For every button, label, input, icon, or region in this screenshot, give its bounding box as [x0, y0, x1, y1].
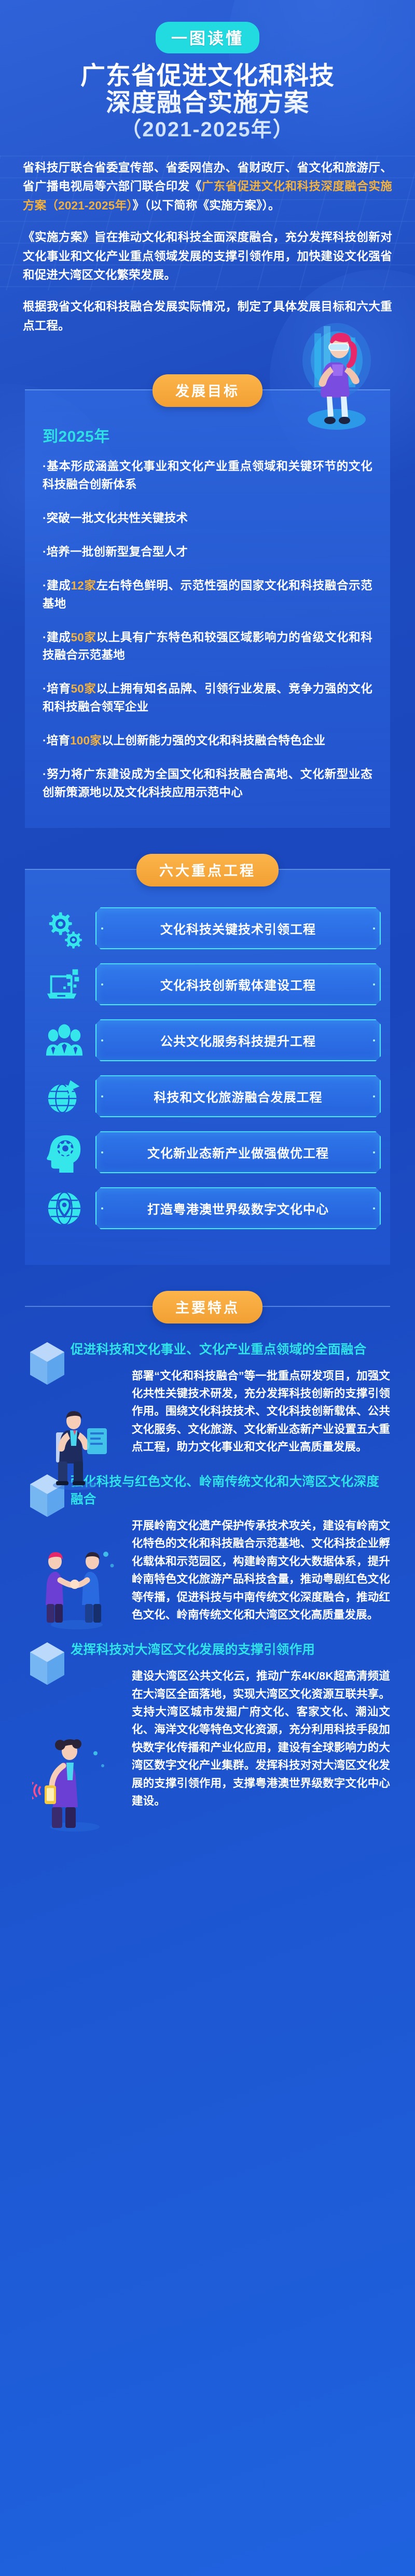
project-chip[interactable]: 公共文化服务科技提升工程: [95, 1019, 381, 1061]
title-line-1: 广东省促进文化和科技: [0, 63, 415, 90]
globe-pin-icon: [33, 1186, 95, 1231]
poster-header: 一图读懂 广东省促进文化和科技 深度融合实施方案 （2021-2025年）: [0, 0, 415, 141]
infographic-poster: 一图读懂 广东省促进文化和科技 深度融合实施方案 （2021-2025年） 省科…: [0, 0, 415, 2576]
goals-panel: 到2025年 ·基本形成涵盖文化事业和文化产业重点领域和关键环节的文化科技融合创…: [25, 389, 390, 827]
goal-item: ·基本形成涵盖文化事业和文化产业重点领域和关键环节的文化科技融合创新体系: [43, 458, 372, 494]
projects-panel: 文化科技关键技术引领工程 文化科技创新载体建设工程: [25, 869, 390, 1265]
projects-heading-wrap: 六大重点工程: [0, 854, 415, 886]
goal-prefix: ·基本形成涵盖文化事业和文化产业重点领域和关键环节的文化科技融合创新体系: [43, 460, 372, 491]
section-heading-features: 主要特点: [153, 1291, 262, 1324]
goal-suffix: 以上创新能力强的文化和科技融合特色企业: [102, 734, 325, 747]
page-title: 广东省促进文化和科技 深度融合实施方案 （2021-2025年）: [0, 63, 415, 141]
goal-number: 50家: [71, 682, 96, 695]
goal-item: ·培育50家以上拥有知名品牌、引领行业发展、竞争力强的文化和科技融合领军企业: [43, 680, 372, 716]
cube-icon: [28, 1473, 66, 1518]
title-years: （2021-2025年）: [0, 119, 415, 141]
section-heading-projects: 六大重点工程: [136, 854, 279, 886]
project-row: 文化科技创新载体建设工程: [33, 962, 381, 1007]
goal-prefix: ·建成: [43, 631, 71, 644]
goal-prefix: ·培养一批创新型复合型人才: [43, 545, 188, 558]
goal-prefix: ·培育: [43, 682, 71, 695]
feature-block: 发挥科技对大湾区文化发展的支撑引领作用: [25, 1641, 390, 1810]
project-chip[interactable]: 文化新业态新产业做强做优工程: [95, 1131, 381, 1173]
feature-body: 部署“文化和科技融合”等一批重点研发项目，加强文化共性关键技术研发，充分发挥科技…: [132, 1367, 390, 1456]
people-group-icon: [33, 1018, 95, 1063]
project-row: 文化新业态新产业做强做优工程: [33, 1130, 381, 1175]
goal-item: ·努力将广东建设成为全国文化和科技融合高地、文化新型业态创新策源地以及文化科技应…: [43, 766, 372, 802]
goal-number: 12家: [71, 579, 96, 592]
goal-item: ·建成50家以上具有广东特色和较强区域影响力的省级文化和科技融合示范基地: [43, 629, 372, 665]
feature-illustration-phone-user: [32, 1724, 120, 1833]
project-chip[interactable]: 文化科技创新载体建设工程: [95, 963, 381, 1005]
laptop-data-icon: [33, 962, 95, 1007]
goal-item: ·培育100家以上创新能力强的文化和科技融合特色企业: [43, 732, 372, 750]
head-gear-icon: [33, 1130, 95, 1175]
feature-body: 建设大湾区公共文化云，推动广东4K/8K超高清频道在大湾区全面落地，实现大湾区文…: [132, 1667, 390, 1810]
goal-prefix: ·突破一批文化共性关键技术: [43, 512, 188, 525]
project-row: 打造粤港澳世界级数字文化中心: [33, 1186, 381, 1231]
feature-illustration-handshake: [35, 1536, 118, 1631]
features-panel: 促进科技和文化事业、文化产业重点领域的全面融合 部署“: [25, 1306, 390, 1859]
feature-block: 促进科技和文化事业、文化产业重点领域的全面融合 部署“: [25, 1341, 390, 1456]
goal-item: ·培养一批创新型复合型人才: [43, 543, 372, 561]
intro-paragraph-2: 《实施方案》旨在推动文化和科技全面深度融合，充分发挥科技创新对文化事业和文化产业…: [23, 228, 392, 285]
feature-title: 发挥科技对大湾区文化发展的支撑引领作用: [71, 1641, 390, 1659]
project-row: 公共文化服务科技提升工程: [33, 1018, 381, 1063]
goal-prefix: ·培育: [43, 734, 70, 747]
section-heading-goals: 发展目标: [153, 374, 262, 407]
gears-icon: [33, 906, 95, 951]
goal-prefix: ·建成: [43, 579, 71, 592]
title-line-2: 深度融合实施方案: [0, 90, 415, 117]
goal-number: 50家: [71, 631, 96, 644]
project-chip[interactable]: 文化科技关键技术引领工程: [95, 907, 381, 949]
cube-icon: [28, 1641, 66, 1686]
project-row: 文化科技关键技术引领工程: [33, 906, 381, 951]
goals-heading-wrap: 发展目标: [0, 374, 415, 407]
read-in-one-image-badge: 一图读懂: [156, 22, 259, 53]
cube-icon: [28, 1341, 66, 1386]
globe-plane-icon: [33, 1074, 95, 1119]
feature-body: 开展岭南文化遗产保护传承技术攻关，建设有岭南文化特色的文化和科技融合示范基地、文…: [132, 1517, 390, 1624]
intro-text: 省科技厅联合省委宣传部、省委网信办、省财政厅、省文化和旅游厅、省广播电视局等六部…: [23, 159, 392, 336]
feature-title: 强化科技与红色文化、岭南传统文化和大湾区文化深度融合: [71, 1473, 390, 1509]
spacer-before-features: [0, 1265, 415, 1286]
goal-number: 100家: [70, 734, 102, 747]
goal-item: ·建成12家左右特色鲜明、示范性强的国家文化和科技融合示范基地: [43, 577, 372, 613]
spacer-before-projects: [0, 828, 415, 849]
goal-item: ·突破一批文化共性关键技术: [43, 510, 372, 528]
project-row: 科技和文化旅游融合发展工程: [33, 1074, 381, 1119]
feature-title: 促进科技和文化事业、文化产业重点领域的全面融合: [71, 1341, 390, 1359]
features-heading-wrap: 主要特点: [0, 1291, 415, 1324]
feature-block: 强化科技与红色文化、岭南传统文化和大湾区文化深度融合 开展岭南文化遗产保护传承技…: [25, 1473, 390, 1624]
goal-prefix: ·努力将广东建设成为全国文化和科技融合高地、文化新型业态创新策源地以及文化科技应…: [43, 768, 372, 799]
project-chip[interactable]: 科技和文化旅游融合发展工程: [95, 1075, 381, 1117]
intro-paragraph-1: 省科技厅联合省委宣传部、省委网信办、省财政厅、省文化和旅游厅、省广播电视局等六部…: [23, 159, 392, 215]
intro-p1-part-b: 》（以下简称《实施方案》）。: [133, 199, 280, 212]
project-chip[interactable]: 打造粤港澳世界级数字文化中心: [95, 1187, 381, 1229]
